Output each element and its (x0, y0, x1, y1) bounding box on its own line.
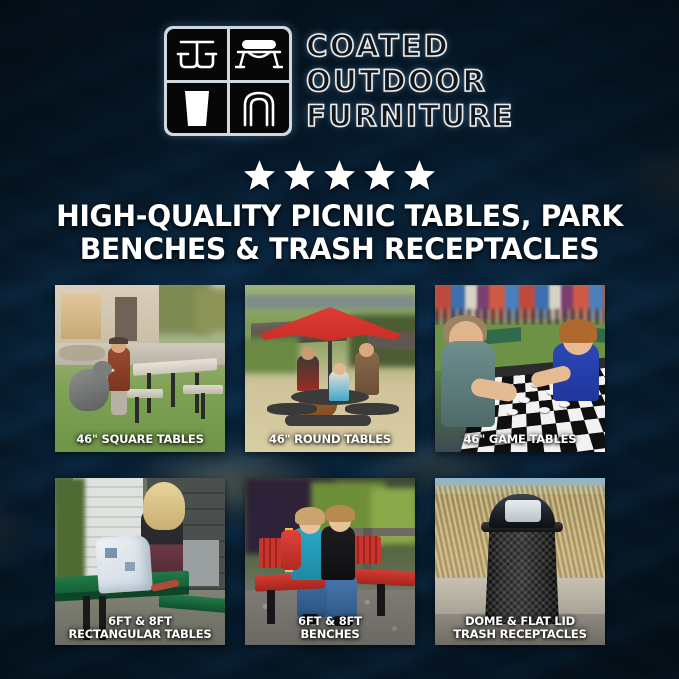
park-bench-icon (230, 29, 290, 80)
trash-receptacle-icon (167, 83, 227, 134)
star-icon (244, 160, 275, 190)
wordmark-line-2: OUTDOOR (306, 64, 515, 98)
wordmark-line-1: COATED (306, 29, 515, 63)
product-photo-round-tables (245, 285, 415, 452)
wordmark-line-3: FURNITURE (306, 99, 515, 133)
product-card-trash-receptacles[interactable]: DOME & FLAT LID TRASH RECEPTACLES (435, 478, 605, 645)
product-photo-game-tables (435, 285, 605, 452)
product-card-round-tables[interactable]: 46" ROUND TABLES (245, 285, 415, 452)
product-photo-square-tables (55, 285, 225, 452)
star-icon (404, 160, 435, 190)
star-rating (0, 160, 679, 190)
brand-logo: COATED OUTDOOR FURNITURE (0, 26, 679, 136)
brand-wordmark: COATED OUTDOOR FURNITURE (306, 29, 515, 133)
product-card-game-tables[interactable]: 46" GAME TABLES (435, 285, 605, 452)
headline: HIGH-QUALITY PICNIC TABLES, PARK BENCHES… (31, 200, 648, 266)
product-card-square-tables[interactable]: 46" SQUARE TABLES (55, 285, 225, 452)
advertisement-canvas: COATED OUTDOOR FURNITURE HIGH-QUALITY PI… (0, 0, 679, 679)
product-caption: 46" ROUND TABLES (245, 433, 415, 446)
arch-bike-rack-icon (230, 83, 290, 134)
product-caption: 6FT & 8FT BENCHES (245, 615, 415, 641)
product-caption: 46" GAME TABLES (435, 433, 605, 446)
product-grid: 46" SQUARE TABLES (55, 285, 625, 645)
picnic-table-icon (167, 29, 227, 80)
logo-icon-grid (164, 26, 292, 136)
star-icon (324, 160, 355, 190)
product-caption: DOME & FLAT LID TRASH RECEPTACLES (435, 615, 605, 641)
star-icon (284, 160, 315, 190)
headline-line-1: HIGH-QUALITY PICNIC TABLES, PARK (31, 200, 648, 233)
product-caption: 6FT & 8FT RECTANGULAR TABLES (55, 615, 225, 641)
product-card-rectangular-tables[interactable]: 6FT & 8FT RECTANGULAR TABLES (55, 478, 225, 645)
headline-line-2: BENCHES & TRASH RECEPTACLES (31, 233, 648, 266)
product-caption: 46" SQUARE TABLES (55, 433, 225, 446)
product-card-benches[interactable]: 6FT & 8FT BENCHES (245, 478, 415, 645)
star-icon (364, 160, 395, 190)
